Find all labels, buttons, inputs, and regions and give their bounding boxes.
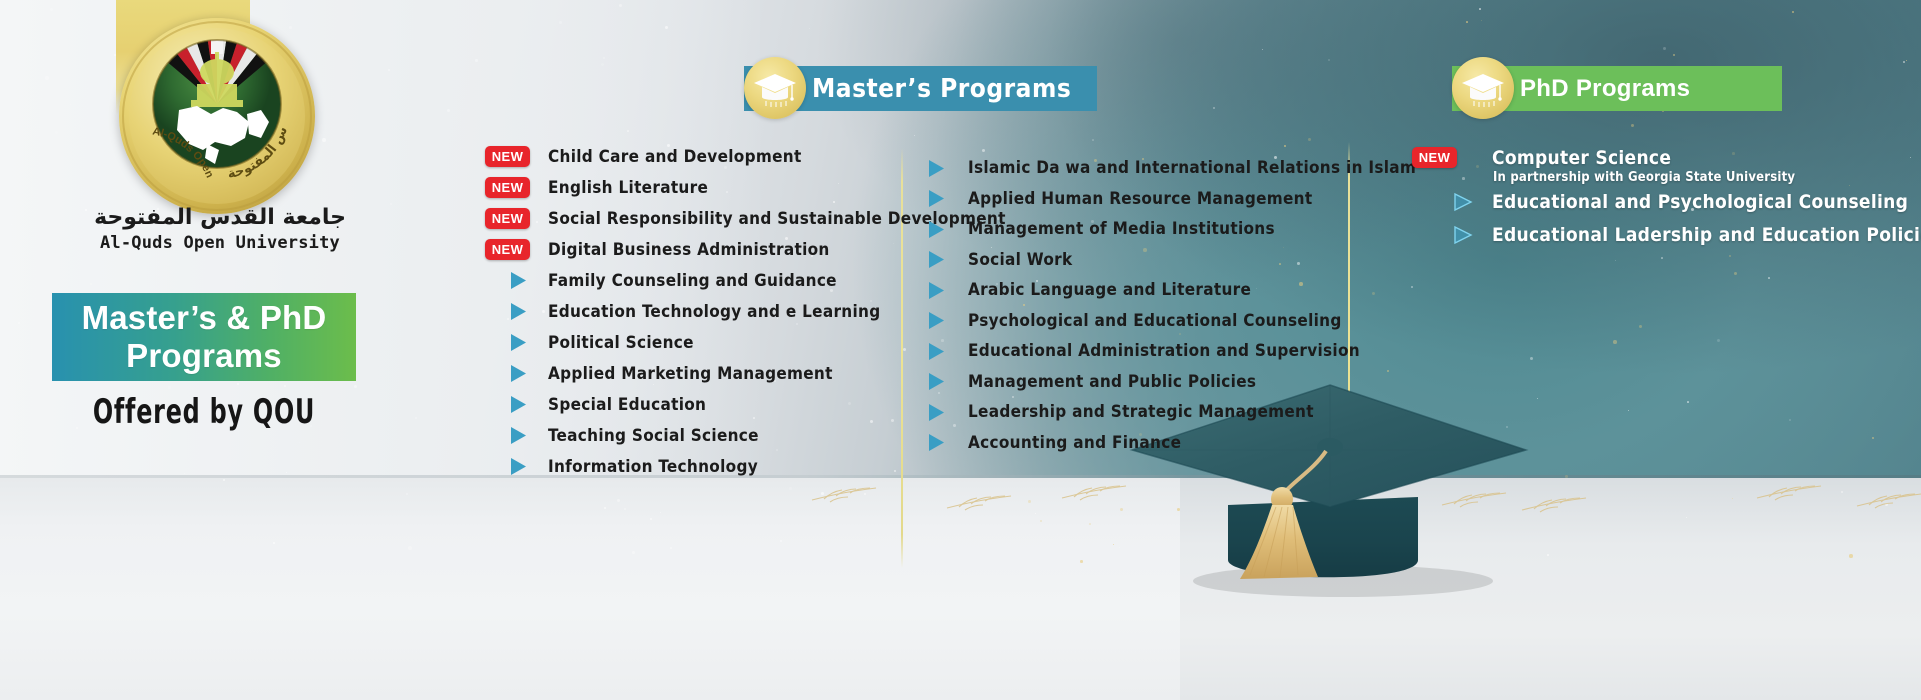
program-item[interactable]: Arabic Language and Literature [925,275,1416,306]
bullet-arrow-icon [925,341,947,362]
bullet-arrow-icon [925,371,947,392]
bullet-arrow-icon [925,432,947,453]
new-badge: NEW [1412,147,1457,168]
university-name-english: Al-Quds Open University [60,233,380,253]
bullet-arrow-icon [507,394,529,415]
program-name: Islamic Da wa and International Relation… [968,158,1416,178]
new-badge: NEW [485,177,530,198]
new-badge: NEW [485,208,530,229]
headline-line-1: Master’s & PhD [82,299,327,337]
program-name: Arabic Language and Literature [968,280,1251,300]
program-name: Psychological and Educational Counseling [968,311,1342,331]
program-item[interactable]: Accounting and Finance [925,428,1416,459]
program-note: In partnership with Georgia State Univer… [1493,170,1921,185]
bullet-arrow-icon [925,158,947,179]
program-item[interactable]: Islamic Da wa and International Relation… [925,153,1416,184]
bullet-arrow-icon [925,188,947,209]
bullet-arrow-icon [507,425,529,446]
background-table-surface [0,478,1180,700]
program-name: Social Work [968,250,1073,270]
program-name: Applied Marketing Management [548,364,833,384]
graduation-cap-icon [744,57,806,119]
headline-line-2: Programs [126,337,282,375]
program-name: Management and Public Policies [968,372,1256,392]
bullet-arrow-icon [507,270,529,291]
section-header-masters: Master’s Programs [744,66,1097,111]
phd-header-label: PhD Programs [1520,75,1690,103]
program-name: English Literature [548,178,708,198]
bullet-arrow-icon [925,402,947,423]
program-item[interactable]: Educational Ladership and Education Poli… [1412,218,1921,251]
qou-logo: Al-Quds Open University جامعة القدس المف… [119,18,315,214]
bullet-arrow-icon [925,280,947,301]
program-name: Digital Business Administration [548,240,830,260]
program-name: Computer Science [1492,147,1671,169]
bullet-arrow-icon [507,301,529,322]
bullet-arrow-icon [507,363,529,384]
masters-header-label: Master’s Programs [812,74,1071,104]
program-name: Family Counseling and Guidance [548,271,837,291]
bullet-arrow-icon [1450,224,1476,246]
program-item[interactable]: Management of Media Institutions [925,214,1416,245]
banner-stage: Al-Quds Open University جامعة القدس المف… [0,0,1921,700]
program-item[interactable]: Educational and Psychological Counseling [1412,185,1921,218]
new-badge: NEW [485,239,530,260]
university-name-arabic: جامعة القدس المفتوحة [60,205,380,230]
program-name: Education Technology and e Learning [548,302,880,322]
bullet-arrow-icon [925,310,947,331]
program-name: Leadership and Strategic Management [968,402,1314,422]
program-name: Special Education [548,395,706,415]
program-name: Applied Human Resource Management [968,189,1312,209]
bullet-arrow-icon [507,456,529,477]
bullet-arrow-icon [925,219,947,240]
section-header-phd: PhD Programs [1452,66,1782,111]
program-item[interactable]: Psychological and Educational Counseling [925,306,1416,337]
program-name: Information Technology [548,457,758,477]
headline-box: Master’s & PhD Programs [52,293,356,381]
graduation-cap-icon [1452,57,1514,119]
masters-programs-column-2: Islamic Da wa and International Relation… [925,153,1416,458]
new-badge: NEW [485,146,530,167]
program-name: Educational and Psychological Counseling [1492,191,1908,213]
program-name: Accounting and Finance [968,433,1181,453]
program-name: Political Science [548,333,694,353]
phd-programs-column: NEWComputer ScienceIn partnership with G… [1412,141,1921,251]
bullet-arrow-icon [1450,191,1476,213]
program-item[interactable]: Applied Human Resource Management [925,184,1416,215]
program-item[interactable]: Educational Administration and Supervisi… [925,336,1416,367]
bullet-arrow-icon [507,332,529,353]
program-item[interactable]: Leadership and Strategic Management [925,397,1416,428]
program-item[interactable]: Management and Public Policies [925,367,1416,398]
program-item[interactable]: Social Work [925,245,1416,276]
bullet-arrow-icon [925,249,947,270]
program-name: Educational Ladership and Education Poli… [1492,224,1921,246]
qou-emblem-icon: Al-Quds Open University جامعة القدس المف… [119,18,315,214]
program-name: Management of Media Institutions [968,219,1275,239]
program-name: Child Care and Development [548,147,802,167]
headline-subtitle: Offered by QOU [85,392,322,432]
program-name: Teaching Social Science [548,426,759,446]
program-name: Educational Administration and Supervisi… [968,341,1360,361]
